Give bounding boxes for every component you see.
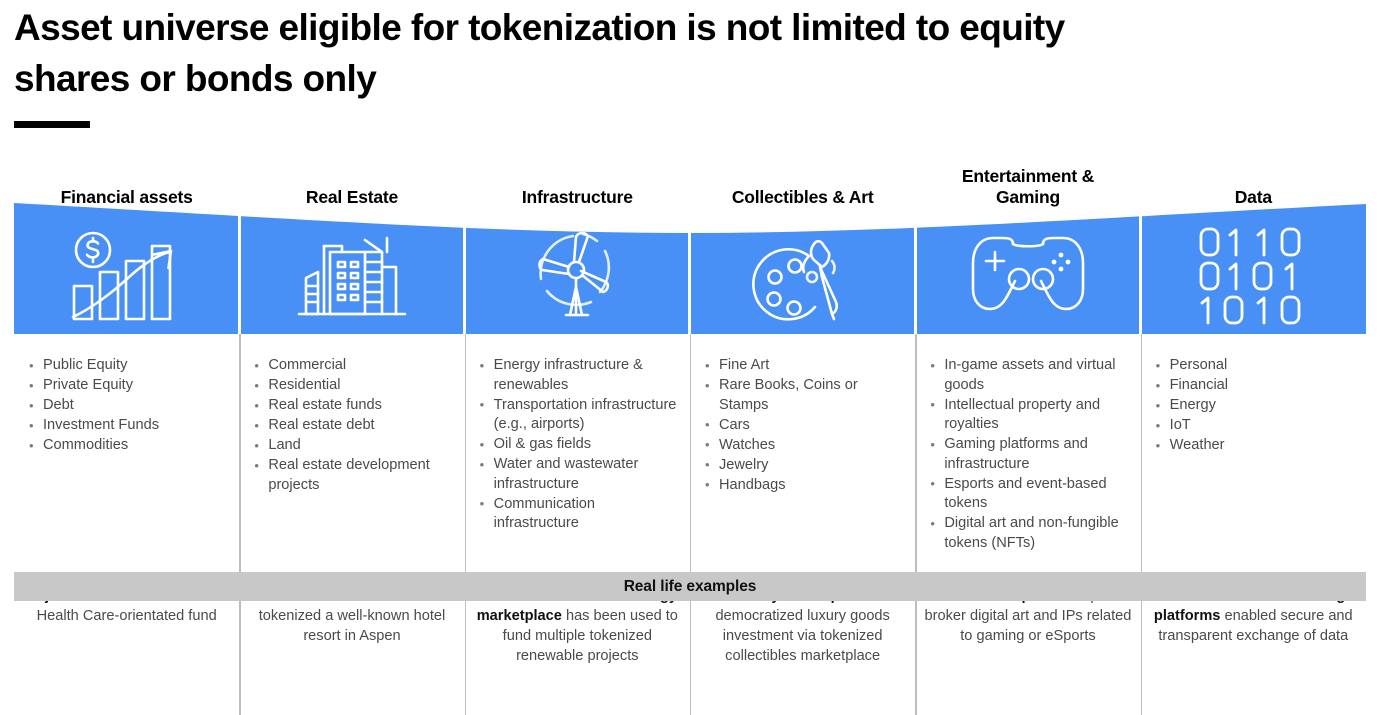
list-item: Handbags <box>704 476 905 496</box>
bullet-list-financial-assets: Public Equity Private Equity Debt Invest… <box>14 342 239 572</box>
example-body-text: democratized luxury goods investment via… <box>715 608 889 664</box>
list-item: Jewelry <box>704 456 905 476</box>
list-item: Rare Books, Coins or Stamps <box>704 376 905 415</box>
list-item: Fine Art <box>704 356 905 376</box>
list-item: Water and wastewater infrastructure <box>479 455 680 494</box>
list-item: Energy <box>1155 396 1356 416</box>
list-item: Land <box>253 436 454 456</box>
list-item: Intellectual property and royalties <box>929 396 1130 435</box>
wind-turbine-icon <box>465 210 690 342</box>
list-item: Gaming platforms and infrastructure <box>929 435 1130 474</box>
column-header-financial-assets: Financial assets <box>14 152 239 210</box>
growth-chart-dollar-icon <box>14 210 239 342</box>
list-item: Digital art and non-fungible tokens (NFT… <box>929 514 1130 553</box>
asset-universe-matrix: Real life examples Financial assets <box>14 152 1366 715</box>
list-item: Investment Funds <box>28 416 229 436</box>
column-financial-assets[interactable]: Financial assets Public Equity <box>14 152 239 715</box>
bullet-list-data: Personal Financial Energy IoT Weather <box>1141 342 1366 572</box>
list-item: Transportation infrastructure (e.g., air… <box>479 396 680 435</box>
paint-palette-brush-icon <box>690 210 915 342</box>
list-item: Personal <box>1155 356 1356 376</box>
list-item: In-game assets and virtual goods <box>929 356 1130 395</box>
city-buildings-icon <box>239 210 464 342</box>
list-item: Communication infrastructure <box>479 495 680 534</box>
column-collectibles-art[interactable]: Collectibles & Art <box>690 152 915 715</box>
game-controller-icon <box>915 210 1140 342</box>
column-header-infrastructure: Infrastructure <box>465 152 690 210</box>
column-infrastructure[interactable]: Infrastructure <box>465 152 690 715</box>
list-item: Real estate debt <box>253 416 454 436</box>
list-item: Financial <box>1155 376 1356 396</box>
list-item: Real estate funds <box>253 396 454 416</box>
list-item: Esports and event-based tokens <box>929 475 1130 514</box>
list-item: IoT <box>1155 416 1356 436</box>
list-item: Public Equity <box>28 356 229 376</box>
column-real-estate[interactable]: Real Estate <box>239 152 464 715</box>
title-block: Asset universe eligible for tokenization… <box>14 2 1334 128</box>
list-item: Commercial <box>253 356 454 376</box>
title-underline-rule <box>14 121 90 128</box>
list-item: Residential <box>253 376 454 396</box>
list-item: Energy infrastructure & renewables <box>479 356 680 395</box>
column-header-entertainment-gaming: Entertainment & Gaming <box>915 152 1140 210</box>
list-item: Cars <box>704 416 905 436</box>
column-entertainment-gaming[interactable]: Entertainment & Gaming In <box>915 152 1140 715</box>
example-body-text: tokenized a well-known hotel resort in A… <box>259 608 446 644</box>
binary-data-icon <box>1141 210 1366 342</box>
page-title: Asset universe eligible for tokenization… <box>14 2 1334 104</box>
column-data[interactable]: Data <box>1141 152 1366 715</box>
list-item: Commodities <box>28 436 229 456</box>
bullet-list-entertainment-gaming: In-game assets and virtual goods Intelle… <box>915 342 1140 572</box>
bullet-list-collectibles-art: Fine Art Rare Books, Coins or Stamps Car… <box>690 342 915 572</box>
column-header-collectibles-art: Collectibles & Art <box>690 152 915 210</box>
matrix-columns: Financial assets Public Equity <box>14 152 1366 715</box>
bullet-list-infrastructure: Energy infrastructure & renewables Trans… <box>465 342 690 572</box>
list-item: Debt <box>28 396 229 416</box>
column-header-real-estate: Real Estate <box>239 152 464 210</box>
list-item: Real estate development projects <box>253 456 454 495</box>
bullet-list-real-estate: Commercial Residential Real estate funds… <box>239 342 464 572</box>
list-item: Weather <box>1155 436 1356 456</box>
list-item: Watches <box>704 436 905 456</box>
real-life-examples-label: Real life examples <box>624 578 757 596</box>
list-item: Oil & gas fields <box>479 435 680 455</box>
real-life-examples-bar: Real life examples <box>14 572 1366 601</box>
list-item: Private Equity <box>28 376 229 396</box>
column-header-data: Data <box>1141 152 1366 210</box>
